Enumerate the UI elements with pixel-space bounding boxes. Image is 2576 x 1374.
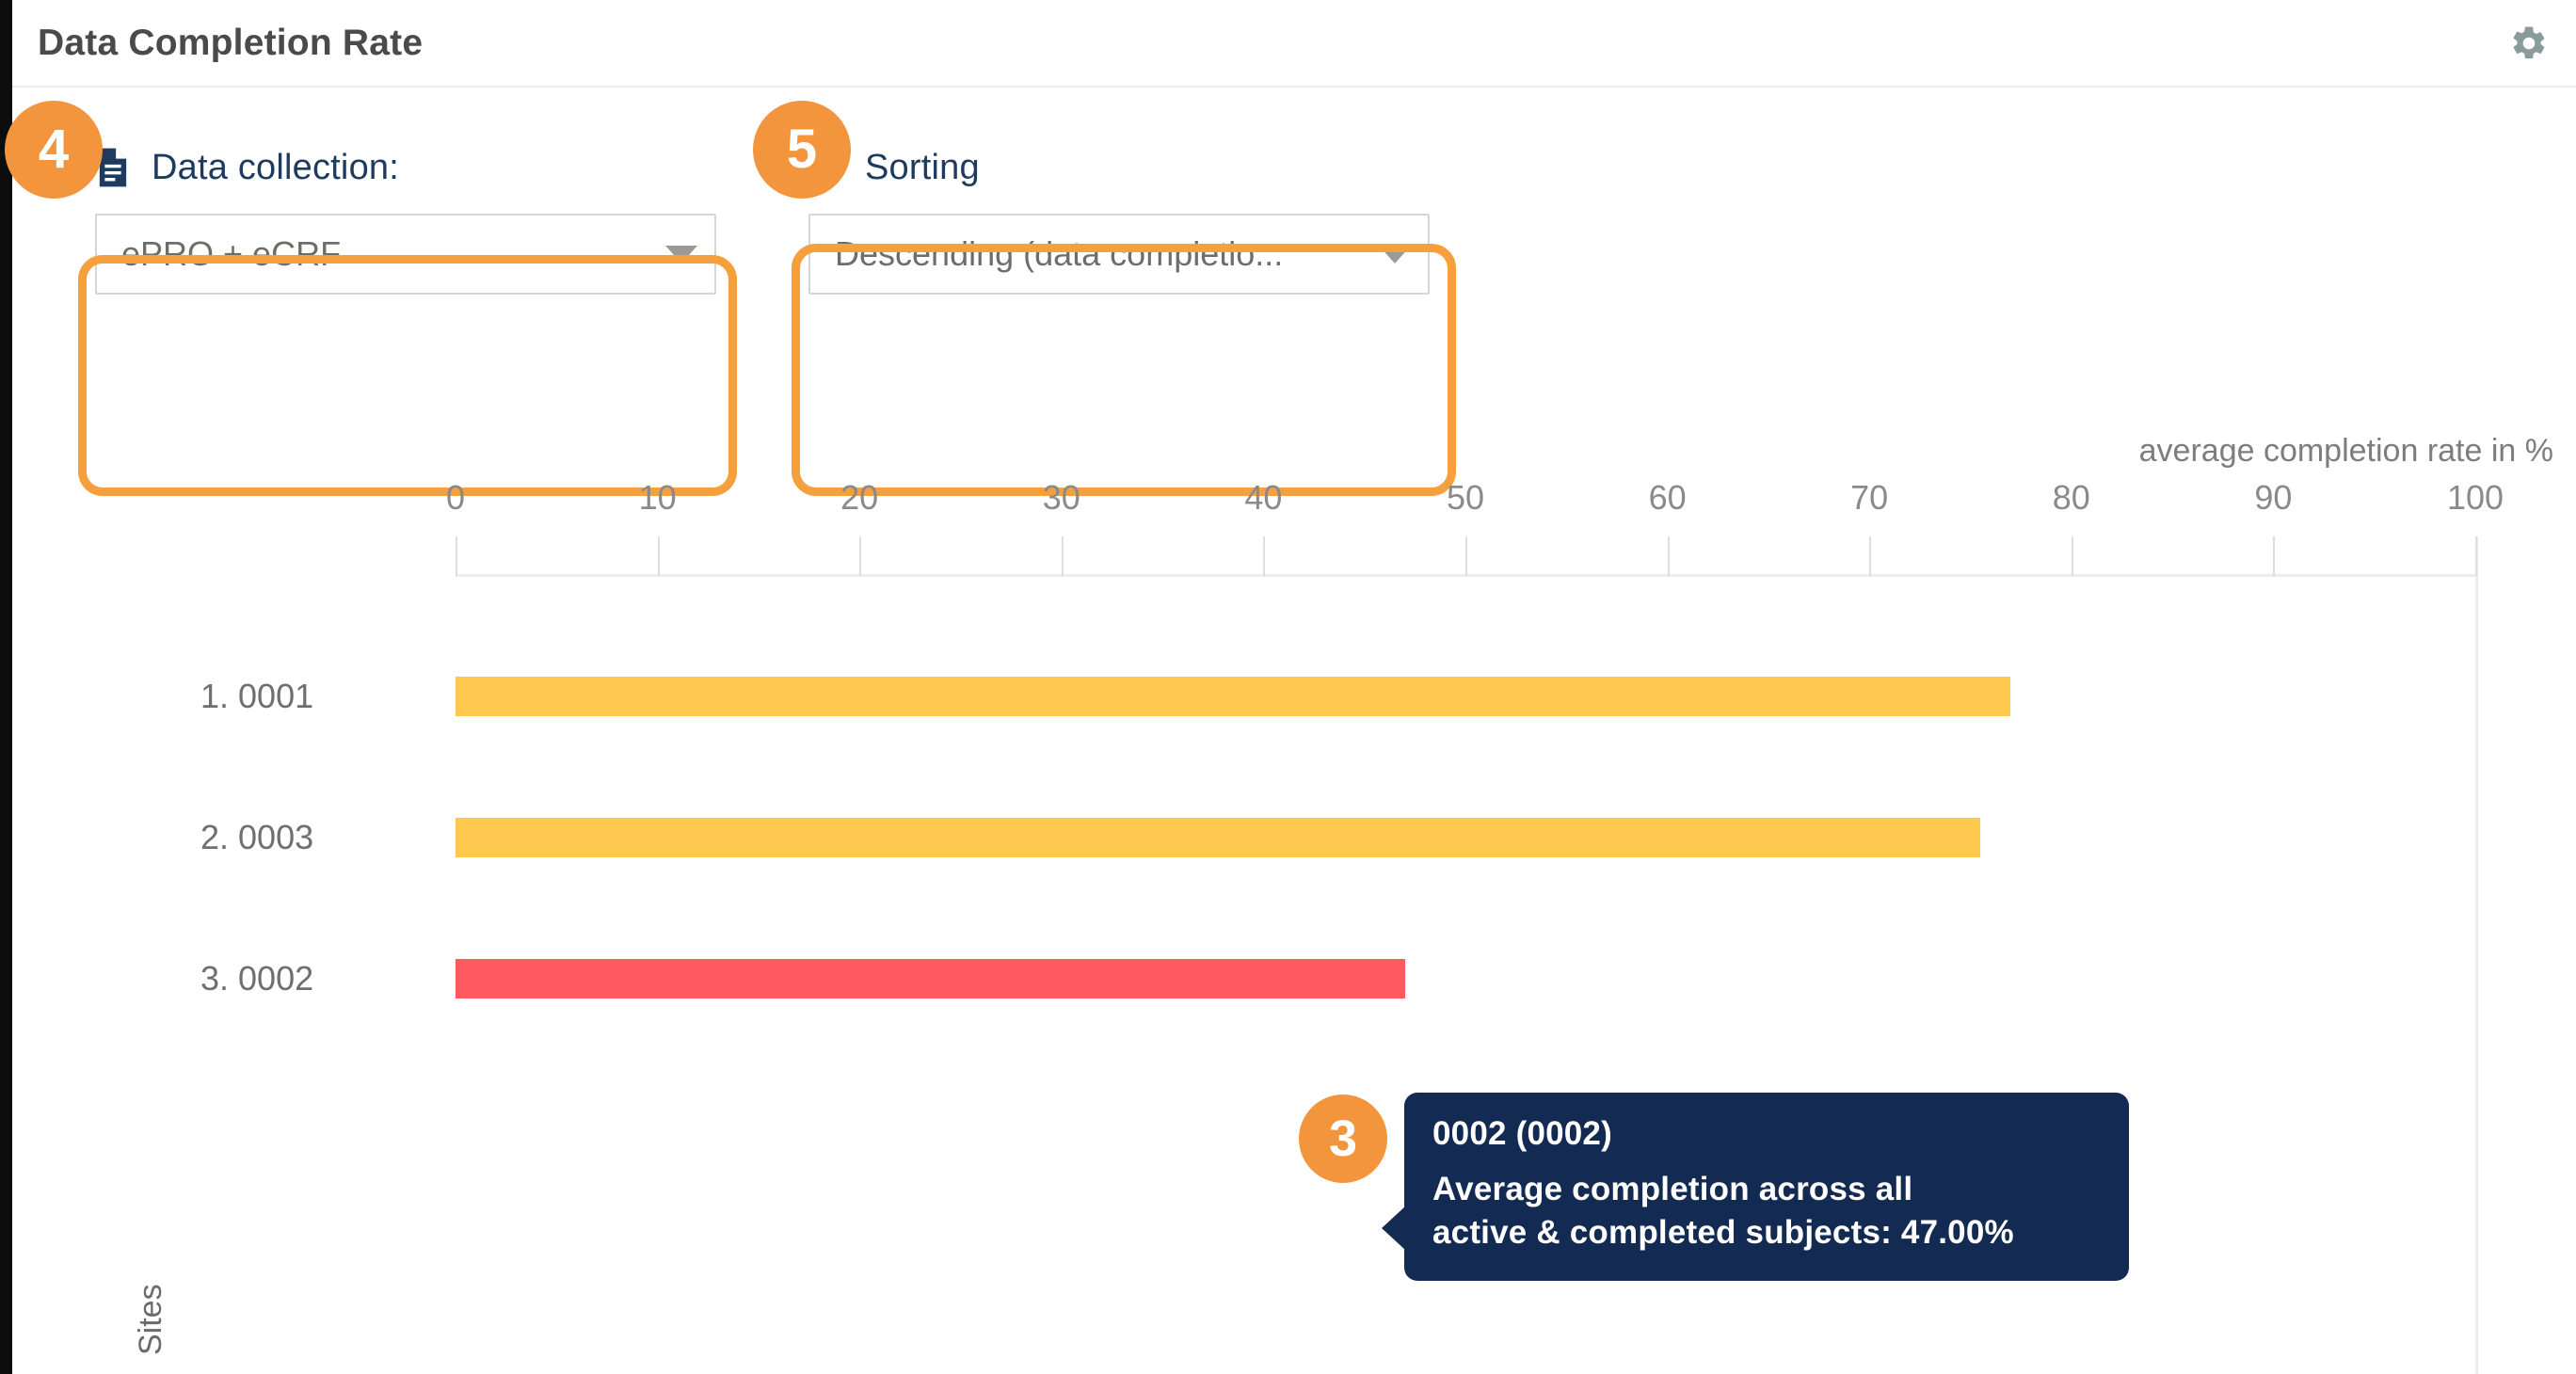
x-tick-mark	[2475, 536, 2477, 576]
sorting-label-row: Sorting	[788, 138, 1447, 197]
bar[interactable]	[456, 677, 2010, 716]
gear-icon[interactable]	[2504, 19, 2553, 68]
callout-badge-3: 3	[1299, 1094, 1387, 1183]
plot-right-border	[2475, 536, 2478, 1374]
y-tick-label: 2. 0003	[200, 818, 313, 857]
x-tick-mark	[658, 536, 660, 576]
bar[interactable]	[456, 818, 1980, 857]
data-collection-value: ePRO + eCRF	[121, 234, 652, 274]
tooltip-line-1: Average completion across all	[1432, 1168, 2101, 1211]
page-title: Data Completion Rate	[38, 23, 423, 64]
tooltip-line-2: active & completed subjects: 47.00%	[1432, 1211, 2101, 1254]
x-tick-mark	[1263, 536, 1265, 576]
y-tick-label: 1. 0001	[200, 677, 313, 716]
x-tick-label: 70	[1850, 478, 1888, 518]
bar[interactable]	[456, 959, 1405, 999]
controls-strip: Data collection: ePRO + eCRF Sorting Des…	[12, 89, 2576, 343]
x-tick-mark	[1668, 536, 1670, 576]
x-tick-label: 50	[1447, 478, 1484, 518]
chart-area: average completion rate in % Sites 01020…	[12, 405, 2576, 1374]
x-tick-label: 20	[840, 478, 878, 518]
x-tick-mark	[1465, 536, 1467, 576]
x-tick-mark	[456, 536, 457, 576]
x-tick-label: 60	[1649, 478, 1687, 518]
x-tick-label: 90	[2254, 478, 2292, 518]
x-tick-mark	[1062, 536, 1064, 576]
sorting-label: Sorting	[865, 148, 980, 188]
plot-canvas: 01020304050607080901001. 00012. 00033. 0…	[12, 405, 2576, 1374]
data-collection-select[interactable]: ePRO + eCRF	[95, 214, 716, 295]
data-collection-control: Data collection: ePRO + eCRF	[74, 138, 733, 295]
y-tick-label: 3. 0002	[200, 959, 313, 999]
left-edge-band	[0, 0, 12, 1374]
x-tick-label: 80	[2053, 478, 2090, 518]
chart-tooltip: 0002 (0002) Average completion across al…	[1404, 1093, 2129, 1281]
x-tick-label: 100	[2447, 478, 2504, 518]
tooltip-title: 0002 (0002)	[1432, 1115, 2101, 1153]
x-tick-mark	[859, 536, 861, 576]
sorting-control: Sorting Descending (data completio...	[788, 138, 1447, 295]
x-tick-mark	[2072, 536, 2073, 576]
x-tick-mark	[2273, 536, 2275, 576]
chevron-down-icon	[665, 246, 697, 264]
x-tick-label: 10	[639, 478, 677, 518]
data-collection-label-row: Data collection:	[74, 138, 733, 197]
callout-badge-4: 4	[5, 101, 103, 199]
sorting-value: Descending (data completio...	[835, 234, 1366, 274]
dashboard-card: Data Completion Rate Data collection: eP…	[0, 0, 2576, 1374]
sorting-select[interactable]: Descending (data completio...	[808, 214, 1430, 295]
callout-badge-5: 5	[753, 101, 851, 199]
x-tick-label: 40	[1244, 478, 1282, 518]
data-collection-label: Data collection:	[152, 148, 399, 188]
x-tick-label: 0	[446, 478, 465, 518]
card-header: Data Completion Rate	[12, 0, 2576, 88]
chevron-down-icon	[1379, 246, 1411, 264]
x-tick-label: 30	[1043, 478, 1080, 518]
x-tick-mark	[1869, 536, 1871, 576]
